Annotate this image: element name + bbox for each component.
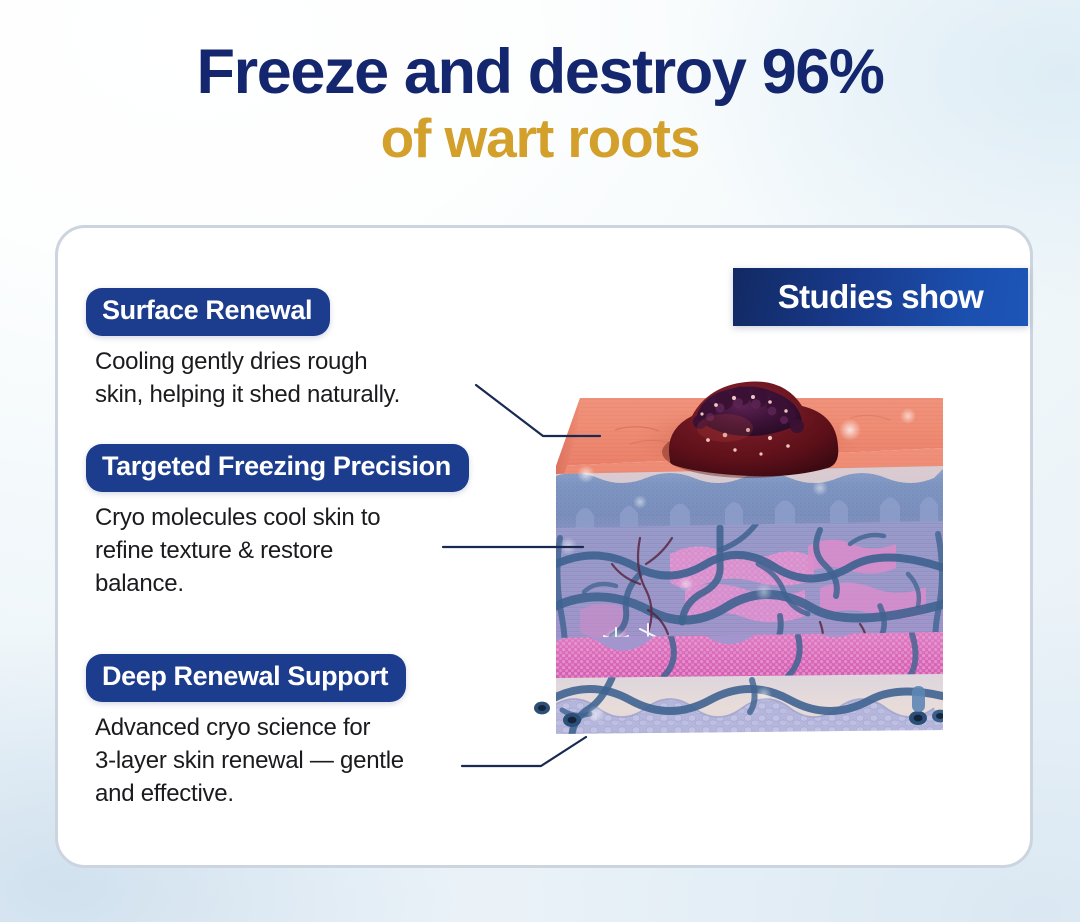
feature-deep-renewal-support: Deep Renewal Support Advanced cryo scien… [86, 654, 486, 810]
feature-badge-deep-renewal-support: Deep Renewal Support [86, 654, 406, 702]
page-title: Freeze and destroy 96% of wart roots [0, 40, 1080, 167]
wart-lesion [662, 382, 838, 479]
feature-body-surface-renewal: Cooling gently dries rough skin, helping… [95, 345, 486, 411]
feature-body-deep-renewal-support: Advanced cryo science for 3-layer skin r… [95, 711, 486, 810]
skin-cross-section-diagram [520, 378, 985, 798]
feature-targeted-freezing-precision: Targeted Freezing Precision Cryo molecul… [86, 444, 486, 600]
subcutaneous-layer [550, 674, 950, 738]
feature-surface-renewal: Surface Renewal Cooling gently dries rou… [86, 288, 486, 411]
headline-line-2: of wart roots [0, 110, 1080, 167]
studies-show-label: Studies show [778, 278, 984, 316]
feature-badge-targeted-freezing-precision: Targeted Freezing Precision [86, 444, 469, 492]
studies-show-banner: Studies show [733, 268, 1028, 326]
headline-line-1: Freeze and destroy 96% [0, 40, 1080, 104]
feature-badge-surface-renewal: Surface Renewal [86, 288, 330, 336]
feature-body-targeted-freezing-precision: Cryo molecules cool skin to refine textu… [95, 501, 486, 600]
left-cut-vessels [534, 702, 550, 715]
